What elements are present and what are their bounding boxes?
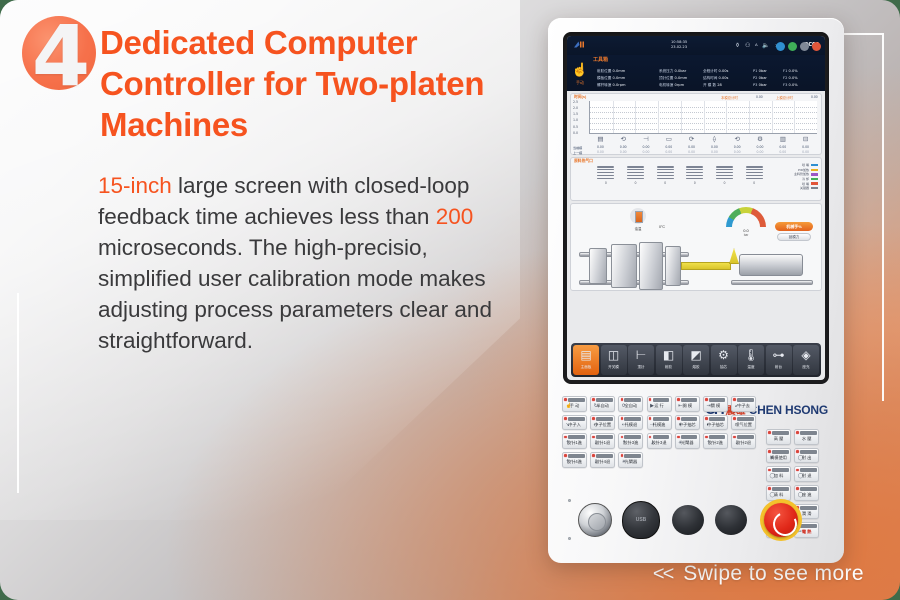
key-led [592,436,595,439]
key-label: 胶针3退 [648,440,671,446]
y-axis-tick: 2.5 [573,100,578,104]
mode-indicator[interactable]: ☝ 手动 [570,61,590,86]
key-中子入[interactable]: ↘中子入 [562,415,587,431]
reading-item: 开 模 数 28 [703,82,722,88]
legend-swatch [811,169,818,171]
key-led [733,398,736,401]
chart-value: 0.00 [612,150,635,154]
key-胶针2進[interactable]: ⇡胶针2進 [703,433,728,449]
key-cap [568,454,585,458]
key-cap [624,454,641,458]
mode-label: 手动 [570,80,590,86]
chart-value: 0.00 [635,145,658,149]
swipe-hint[interactable]: << Swipe to see more [653,562,864,586]
key-label: 關 模 [704,403,727,409]
key-label: 胶针1退 [591,440,614,446]
key-运行[interactable]: ▶运 行 [647,396,672,412]
zone-bar [597,178,614,180]
tab-icon: ⊶ [766,345,792,365]
zone-bar [746,175,763,177]
grid-line-v [794,101,795,133]
zone-bar [657,172,674,174]
speaker-icon[interactable]: 🔈 [762,42,769,49]
tab-顶针[interactable]: ⊢顶针 [628,345,654,375]
zone-value: 0 [657,181,674,185]
reading-label: 开 模 数 [703,83,716,87]
key-光閘器[interactable]: ✳光閘器 [618,452,643,468]
machine-diagram-card[interactable]: 油温 0°C 0.0 bar 机械手% 锁模力 [570,203,822,291]
reading-value: 0.0% [789,83,798,87]
legend-label: 主料管加热 [794,172,809,176]
tab-温度[interactable]: 🌡温度 [738,345,764,375]
key-全自动[interactable]: ⟳全自动 [618,396,643,412]
legend-swatch [811,182,818,184]
key-label: 中子位置 [591,422,614,428]
key-slot-icon [593,515,599,521]
key-label: 胶针4進 [563,459,586,465]
key-led [677,398,680,401]
tab-icon: ⚙ [711,345,737,365]
key-高壓[interactable]: 高 壓 [766,429,791,445]
key-led [649,398,652,401]
key-label: 胶针2退 [732,440,755,446]
key-label: 加 料 [767,473,790,479]
usb-label: USB [623,517,659,523]
chart-series-2-label: 上一模 [573,150,582,155]
zone-bar [627,175,644,177]
zone-bar [597,175,614,177]
tab-开关模[interactable]: ◫开关模 [601,345,627,375]
slide-number: 4 [26,10,96,102]
temperature-card-title: 原料热气口 [574,159,593,164]
key-托模退[interactable]: ⇠托模退 [618,415,643,431]
key-水壓[interactable]: 水 壓 [794,429,819,445]
reading-item: 模板位置 0.0mm [597,75,625,81]
chart-value: 0.00 [680,145,703,149]
key-led [677,436,680,439]
key-led [768,487,771,490]
screen-subheader: 工具箱 ☝ 手动 射胶位置 0.0mm模板位置 0.0mm螺杆转速 0.0rpm… [567,55,825,91]
key-led [705,398,708,401]
reading-item: 顶针位置 0.0mm [659,75,687,81]
panel-screw [568,537,571,540]
melt-channel [681,262,731,270]
tab-icon: ◩ [683,345,709,365]
grid-line-v [772,101,773,133]
legend-item: 关锁器 [794,186,818,191]
key-開模[interactable]: ⇤開 模 [675,396,700,412]
reading-item: F2 0.0% [783,75,798,81]
oil-temperature-indicator: 油温 [627,208,649,231]
key-cap [568,398,585,402]
chevron-left-icon: << [653,563,672,586]
grid-line-v [613,101,614,133]
body-highlight-inch: 15-inch [98,173,172,198]
chart-series-2-values: 0.000.000.000.000.000.000.000.000.000.00 [589,150,817,154]
reading-item: 全程计时 0.00s [703,68,728,74]
key-led [733,436,736,439]
zone-bar [716,169,733,171]
key-label: 喷气位置 [732,422,755,428]
clamp-force-button[interactable]: 锁模力 [777,233,811,241]
legend-label: 关锁器 [800,186,809,190]
reading-value: 0.0mm [613,69,626,73]
zone-value: 0 [597,181,614,185]
main-tab-bar[interactable]: ▤主面板◫开关模⊢顶针◧射胶◩熔胶⚙抽芯🌡温度⊶射台◈座充 [571,343,821,377]
key-switch[interactable] [578,503,612,537]
tab-icon: ◧ [656,345,682,365]
zone-bar [627,178,644,180]
grid-line-v [635,101,636,133]
key-led [677,417,680,420]
temperature-zones: 000000 [591,166,769,185]
body-highlight-200: 200 [436,204,474,229]
clock-date: 23.02.23 [671,45,687,50]
y-axis-tick: 0.0 [573,131,578,135]
temperature-zone: 0 [657,166,674,185]
temperature-zone: 0 [716,166,733,185]
reading-label: 射胶位置 [597,69,611,73]
key-led [564,436,567,439]
person-icon[interactable]: ⚇ [745,42,750,49]
chart-annotation-1-label: 本模总计时 [721,95,738,100]
tab-icon: ▤ [573,345,599,365]
reading-label: 电机转速 [659,83,673,87]
tab-label: 射胶 [656,365,682,370]
key-led [649,436,652,439]
reading-label: 系统压力 [659,69,673,73]
reading-item: 螺杆转速 0.0rpm [597,82,626,88]
key-cap [709,417,726,421]
key-label: 射 退 [795,473,818,479]
y-axis-tick: 2.0 [573,106,578,110]
oil-temperature-value: 0°C [659,225,665,229]
key-label: 光閘器 [619,459,642,465]
tab-icon: ◫ [601,345,627,365]
alarm-icon[interactable]: A [755,42,758,47]
reading-label: F1 [783,69,787,73]
estop-arrow-icon [770,509,800,539]
rubber-cap-2[interactable] [715,505,747,535]
key-led [733,417,736,420]
emergency-stop-button[interactable] [760,499,802,541]
chart-category-icon: ▭ [657,135,680,144]
chart-value: 0.00 [703,145,726,149]
status-circle-3[interactable] [800,42,809,51]
reading-item: F1 0.0% [783,68,798,74]
chart-value: 0.00 [657,150,680,154]
zone-bar [597,166,614,168]
legend-swatch [811,178,818,180]
key-cap [800,468,817,472]
key-cap [737,398,754,402]
zone-bar [746,172,763,174]
reading-label: F2 [783,76,787,80]
status-circle-1[interactable] [776,42,785,51]
key-cap [568,435,585,439]
key-cap [653,417,670,421]
chart-annotation-2-label: 上模总计时 [776,95,793,100]
key-led [621,417,624,420]
tab-label: 顶针 [628,365,654,370]
chart-value: 0.00 [794,150,817,154]
key-關模[interactable]: ⇥關 模 [703,396,728,412]
zone-bar [746,166,763,168]
chart-value: 0.00 [726,150,749,154]
key-胶针1進[interactable]: ⇡胶针1進 [562,433,587,449]
key-led [621,436,624,439]
key-cap [596,435,613,439]
tab-icon: ⊢ [628,345,654,365]
hand-icon: ☝ [572,62,588,77]
zone-bar [716,172,733,174]
zone-bar [686,166,703,168]
key-led [621,398,624,401]
gauge-unit: bar [726,233,766,237]
chart-value: 0.00 [794,145,817,149]
reading-value: 0bar [759,83,767,87]
reading-value: 0.0bar [675,69,687,73]
key-胶针1退[interactable]: ⇣胶针1退 [590,433,615,449]
chart-series-1-values: 0.000.000.000.000.000.000.000.000.000.00 [589,145,817,149]
tab-label: 座充 [793,365,819,370]
key-label: 中子入 [563,422,586,428]
key-led [796,431,799,434]
reading-label: 顶针位置 [659,76,673,80]
nozzle-platen [665,246,681,286]
reading-value: 0.0% [789,69,798,73]
reading-label: 全程计时 [703,69,717,73]
chart-category-icon: ▥ [771,135,794,144]
chart-value: 0.00 [703,150,726,154]
oil-label: 油温 [627,226,649,231]
hopper-funnel [729,248,739,264]
chart-category-icon: ⚙ [749,135,772,144]
key-胶针4進[interactable]: ⇡胶针4進 [562,452,587,468]
key-cap [709,398,726,402]
chart-category-icon: ▤ [589,135,612,144]
zone-bar [657,169,674,171]
key-胶针3進[interactable]: ⇡胶针3進 [618,433,643,449]
chart-value: 0.00 [726,145,749,149]
key-cap [681,417,698,421]
chart-category-icon: ⊟ [794,135,817,144]
tab-射台[interactable]: ⊶射台 [766,345,792,375]
key-label: 托模退 [619,422,642,428]
key-托模進[interactable]: ⇢托模進 [647,415,672,431]
key-cap [624,435,641,439]
key-label: 光閘器 [676,440,699,446]
chart-category-icon: ⟲ [726,135,749,144]
key-label: 调模使用 [767,455,790,461]
key-cap [772,450,789,454]
key-cap [800,431,817,435]
body-part-4: microseconds. The high-precisio, simplif… [98,235,492,353]
chart-value: 0.00 [749,145,772,149]
zone-bar [686,169,703,171]
reading-value: 0.0rpm [613,83,626,87]
reading-label: P1 [753,69,757,73]
usb-port-cover[interactable]: USB [622,501,660,539]
zone-value: 0 [686,181,703,185]
reading-item: 射胶位置 0.0mm [597,68,625,74]
key-led [649,417,652,420]
key-label: 中子去 [732,403,755,409]
key-led [705,417,708,420]
legend-swatch [811,173,818,175]
key-led [705,436,708,439]
gauge-needle [745,216,755,222]
reading-item: P1 0bar [753,68,767,74]
robot-button[interactable]: 机械手% [775,222,813,231]
key-led [564,454,567,457]
chart-category-icons: ▤⟲⊣▭⟳⟠⟲⚙▥⊟ [589,135,817,144]
reading-item: F3 0.0% [783,82,798,88]
reading-label: 结构时间 [703,76,717,80]
body-text: 15-inch large screen with closed-loop fe… [98,170,518,356]
tab-label: 开关模 [601,365,627,370]
temperature-zone: 0 [746,166,763,185]
barrel-base [731,280,813,285]
key-label: 中子抽芯 [704,422,727,428]
key-手动[interactable]: ☝手 动 [562,396,587,412]
key-led [592,398,595,401]
key-cap [709,435,726,439]
key-胶针2退[interactable]: ⇣胶针2退 [731,433,756,449]
hmi-screen[interactable]: 10:58:35 23.02.23 ⚱ ⚇ A 🔈 1/2 QC06 工具箱 ☝… [567,36,825,380]
key-胶针3退[interactable]: ⇣胶针3退 [647,433,672,449]
fixed-platen [589,248,607,284]
reading-value: 0.00s [719,76,729,80]
zone-bar [686,175,703,177]
keypad-main[interactable]: ☝手 动↻半自动⟳全自动▶运 行⇤開 模⇥關 模↙中子去↘中子入◇中子位置⇠托模… [562,396,762,468]
key-胶针4退[interactable]: ⇣胶针4退 [590,452,615,468]
page-title: Dedicated Computer Controller for Two-pl… [100,22,530,145]
status-circle-2[interactable] [788,42,797,51]
key-cap [624,417,641,421]
key-led [768,450,771,453]
key-光閘器[interactable]: ✳光閘器 [675,433,700,449]
zone-value: 0 [627,181,644,185]
status-circle-group[interactable] [776,42,821,51]
reading-value: 28 [717,83,722,87]
key-cap [681,398,698,402]
key-cap [772,431,789,435]
key-led [592,454,595,457]
moving-platen [611,244,637,288]
temperature-zone: 0 [686,166,703,185]
tab-熔胶[interactable]: ◩熔胶 [683,345,709,375]
key-cap [624,398,641,402]
clock-time: 10:58:35 [671,40,687,45]
tab-icon: 🌡 [738,345,764,365]
tab-射胶[interactable]: ◧射胶 [656,345,682,375]
key-label: 胶针3進 [619,440,642,446]
tab-座充[interactable]: ◈座充 [793,345,819,375]
panel-screw [568,499,571,502]
reading-item: P2 0bar [753,75,767,81]
key-cap [653,398,670,402]
key-中子抽芯[interactable]: ◑中子抽芯 [675,415,700,431]
key-中子抽芯[interactable]: ◐中子抽芯 [703,415,728,431]
zone-bar [627,172,644,174]
key-cap [681,435,698,439]
tab-主面板[interactable]: ▤主面板 [573,345,599,375]
key-label: 高 壓 [767,436,790,442]
key-中子位置[interactable]: ◇中子位置 [590,415,615,431]
reading-label: 模板位置 [597,76,611,80]
subheader-title: 工具箱 [593,56,608,63]
chart-value: 0.00 [771,150,794,154]
key-cap [596,454,613,458]
rubber-cap-1[interactable] [672,505,704,535]
key-led [592,417,595,420]
key-射退[interactable]: ◯射 退 [794,466,819,482]
left-accent-line [17,293,19,493]
key-射出[interactable]: ◯射 出 [794,448,819,464]
chart-value: 0.00 [635,150,658,154]
zone-value: 0 [716,181,733,185]
promo-card: 4 Dedicated Computer Controller for Two-… [0,0,900,600]
temperature-legend: 喷 嘴PID加热主料管加热冷 却喷 嘴关锁器 [794,163,818,191]
hardware-controls: USB [562,497,830,549]
zone-bar [746,178,763,180]
reading-value: 0rpm [675,83,685,87]
key-调模使用[interactable]: ✕调模使用 [766,448,791,464]
tab-label: 主面板 [573,365,599,370]
pressure-gauge: 0.0 bar [726,207,766,239]
temperature-zone: 0 [597,166,614,185]
chart-annotation-2-value: 0.00 [811,95,818,99]
key-label: 运 行 [648,403,671,409]
zone-bar [627,166,644,168]
bottle-icon[interactable]: ⚱ [735,42,740,49]
key-加料[interactable]: ◯加 料 [766,466,791,482]
legend-label: 冷 却 [802,177,809,181]
key-label: 開 模 [676,403,699,409]
key-led [564,417,567,420]
key-label: 胶针1進 [563,440,586,446]
key-label: 胶针2進 [704,440,727,446]
key-cap [737,435,754,439]
temperature-zone-card: 原料热气口 000000 喷 嘴PID加热主料管加热冷 却喷 嘴关锁器 [570,157,822,201]
key-label: 胶针4退 [591,459,614,465]
zone-value: 0 [746,181,763,185]
reading-value: 0.00s [719,69,729,73]
reading-label: P3 [753,83,757,87]
zone-bar [657,166,674,168]
chart-category-icon: ⊣ [635,135,658,144]
zone-bar [627,169,644,171]
zone-bar [657,175,674,177]
chart-value: 0.00 [657,145,680,149]
y-axis-tick: 1.5 [573,112,578,116]
chart-annotation-1-value: 0.00 [756,95,763,99]
key-label: 全自动 [619,403,642,409]
status-circle-4[interactable] [812,42,821,51]
key-led [796,487,799,490]
gauge-dial [726,207,766,227]
key-cap [772,487,789,491]
key-半自动[interactable]: ↻半自动 [590,396,615,412]
key-cap [800,487,817,491]
chart-plot-area [589,101,817,134]
key-cap [800,450,817,454]
key-中子去[interactable]: ↙中子去 [731,396,756,412]
chart-value: 0.00 [680,150,703,154]
key-喷气位置[interactable]: ◌喷气位置 [731,415,756,431]
tab-抽芯[interactable]: ⚙抽芯 [711,345,737,375]
